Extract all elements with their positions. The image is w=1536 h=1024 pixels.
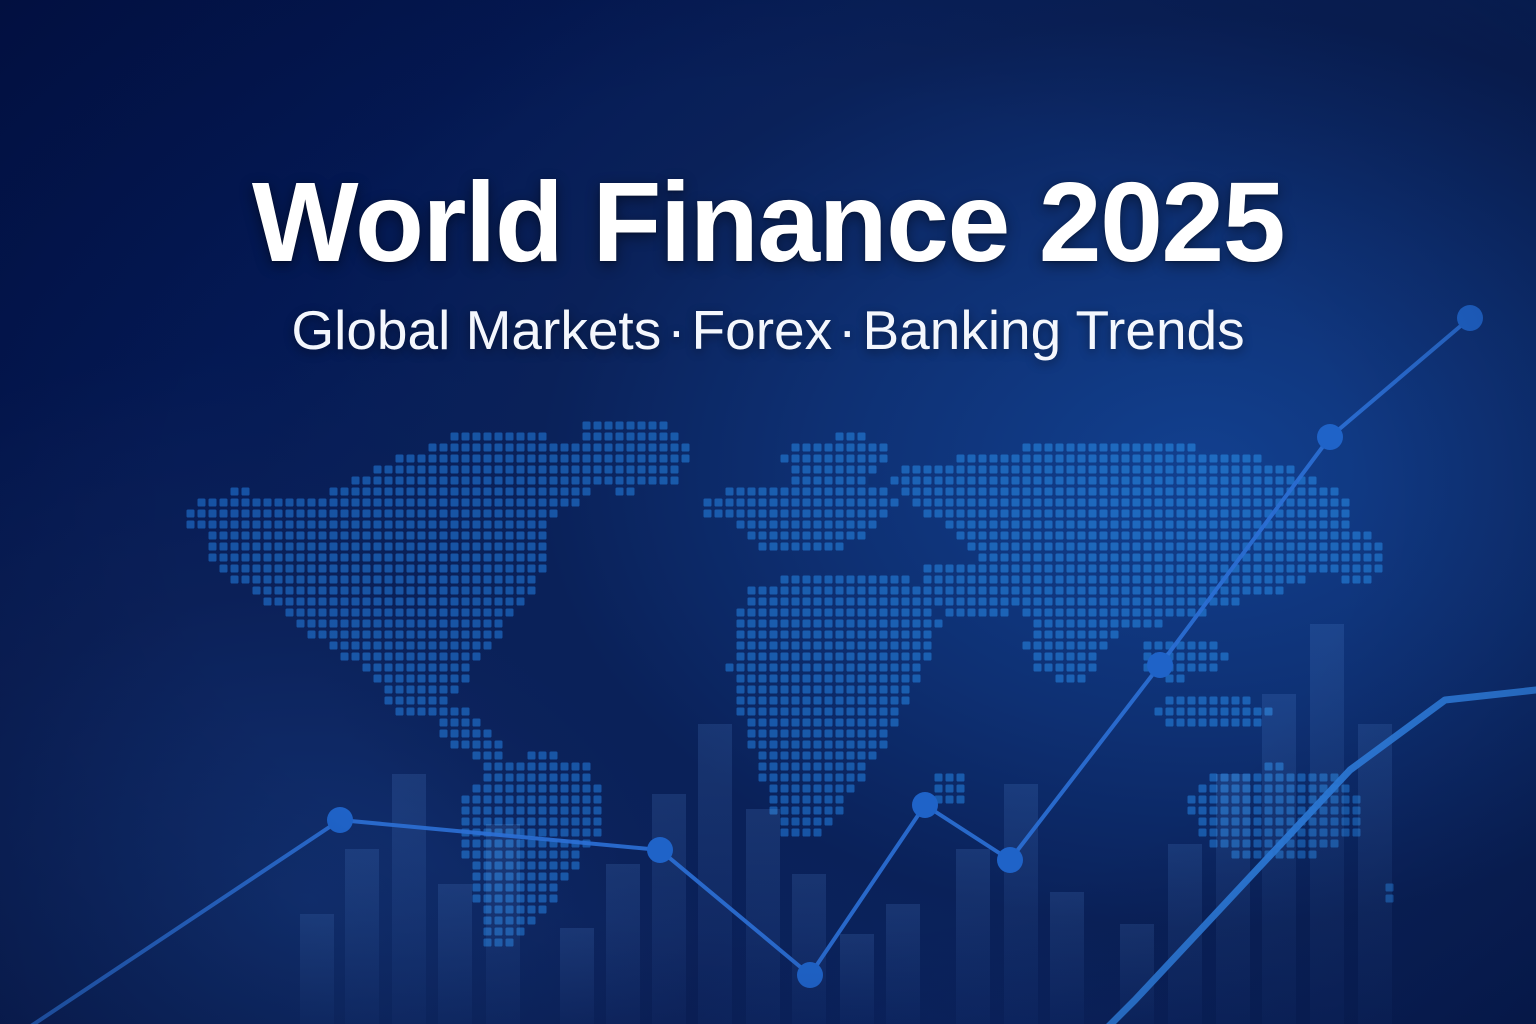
page-title: World Finance 2025 (0, 166, 1536, 279)
subtitle-separator-2: · (832, 299, 862, 361)
subtitle-part-markets: Global Markets (291, 299, 661, 361)
subtitle-part-forex: Forex (692, 299, 833, 361)
headline-block: World Finance 2025 Global Markets·Forex·… (0, 0, 1536, 358)
subtitle-separator-1: · (661, 299, 691, 361)
page-subtitle: Global Markets·Forex·Banking Trends (0, 303, 1536, 358)
subtitle-part-banking: Banking Trends (862, 299, 1244, 361)
poster-canvas: World Finance 2025 Global Markets·Forex·… (0, 0, 1536, 1024)
